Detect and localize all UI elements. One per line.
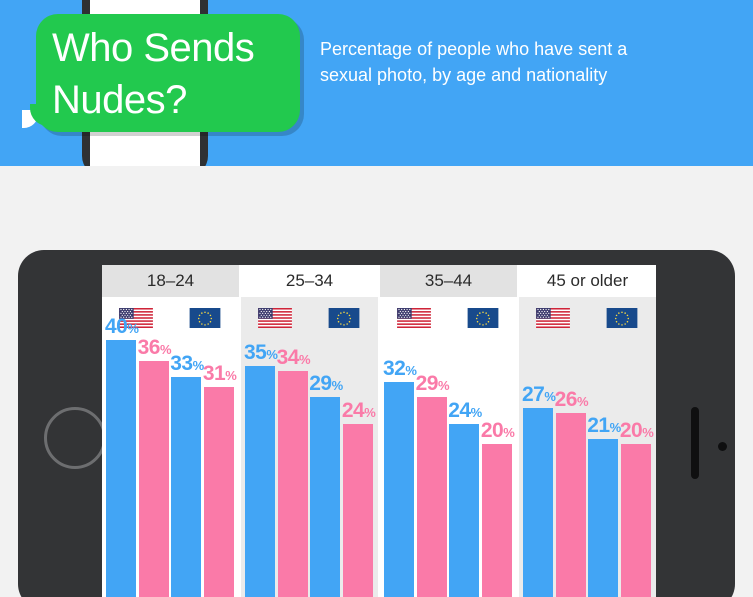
bar-value-label: 26% — [555, 388, 588, 412]
bars-container: 40%36%33%31% — [102, 297, 239, 597]
bar-value-label: 33% — [170, 352, 203, 376]
title-line-1: Who Sends — [52, 22, 292, 74]
bar-value-number: 40 — [105, 315, 127, 338]
chart-bar — [204, 387, 234, 597]
bar-value-label: 32% — [383, 357, 416, 381]
bar-value-number: 35 — [244, 341, 266, 364]
age-group-label: 45 or older — [547, 271, 628, 290]
chart-bar — [417, 397, 447, 597]
bar-value-suffix: % — [364, 405, 375, 420]
chart-bar — [343, 424, 373, 597]
chart-bar — [310, 397, 340, 597]
age-group-panel: 18–24 — [102, 265, 239, 597]
bar-value-number: 34 — [277, 346, 299, 369]
bar-value-label: 24% — [448, 399, 481, 423]
bar-value-suffix: % — [127, 321, 138, 336]
age-group-panel: 25–34 — [239, 265, 378, 597]
chart-bar — [588, 439, 618, 597]
bar-value-label: 20% — [481, 419, 514, 443]
bar-value-number: 29 — [416, 372, 438, 395]
age-group-panel: 35–44 — [378, 265, 517, 597]
bar-value-number: 33 — [170, 352, 192, 375]
age-group-header: 45 or older — [519, 265, 656, 297]
bar-value-label: 29% — [309, 372, 342, 396]
infographic-stage: Who Sends Nudes? Percentage of people wh… — [0, 0, 753, 597]
age-group-plot-area: 27%26%21%20% — [519, 297, 656, 597]
bar-value-number: 20 — [620, 419, 642, 442]
age-group-label: 18–24 — [147, 271, 194, 290]
bar-chart: 18–24 — [102, 265, 656, 597]
bar-value-number: 21 — [587, 414, 609, 437]
bar-value-suffix: % — [577, 394, 588, 409]
bar-value-number: 36 — [138, 336, 160, 359]
bar-value-number: 20 — [481, 419, 503, 442]
phone-front-camera-icon — [718, 442, 727, 451]
bar-value-number: 24 — [342, 399, 364, 422]
bars-container: 35%34%29%24% — [241, 297, 378, 597]
bar-value-suffix: % — [299, 352, 310, 367]
age-group-header: 35–44 — [380, 265, 517, 297]
bar-value-number: 26 — [555, 388, 577, 411]
chart-bar — [106, 340, 136, 597]
age-group-plot-area: 32%29%24%20% — [380, 297, 517, 597]
chart-bar — [245, 366, 275, 597]
bar-value-label: 36% — [138, 336, 171, 360]
bar-value-number: 32 — [383, 357, 405, 380]
age-group-label: 35–44 — [425, 271, 472, 290]
bar-value-label: 31% — [203, 362, 236, 386]
age-group-label: 25–34 — [286, 271, 333, 290]
chart-bar — [139, 361, 169, 597]
age-group-header: 25–34 — [241, 265, 378, 297]
bar-value-suffix: % — [642, 425, 653, 440]
bar-value-label: 29% — [416, 372, 449, 396]
age-group-panel: 45 or older — [517, 265, 656, 597]
bar-value-number: 24 — [448, 399, 470, 422]
bars-container: 27%26%21%20% — [519, 297, 656, 597]
bar-value-label: 27% — [522, 383, 555, 407]
age-group-plot-area: 40%36%33%31% — [102, 297, 239, 597]
legend: Men Women — [0, 166, 753, 240]
bar-value-label: 20% — [620, 419, 653, 443]
bar-value-label: 24% — [342, 399, 375, 423]
page-subtitle: Percentage of people who have sent a sex… — [320, 36, 650, 88]
chart-bar — [449, 424, 479, 597]
bar-value-suffix: % — [503, 425, 514, 440]
bar-value-label: 40% — [105, 315, 138, 339]
bar-value-number: 31 — [203, 362, 225, 385]
chart-bar — [621, 444, 651, 597]
bar-value-number: 27 — [522, 383, 544, 406]
bar-value-suffix: % — [332, 378, 343, 393]
age-group-header: 18–24 — [102, 265, 239, 297]
title-line-2: Nudes? — [52, 74, 292, 126]
bars-container: 32%29%24%20% — [380, 297, 517, 597]
chart-bar — [171, 377, 201, 597]
bar-value-label: 35% — [244, 341, 277, 365]
chart-bar — [556, 413, 586, 597]
bar-value-suffix: % — [471, 405, 482, 420]
header-banner: Who Sends Nudes? Percentage of people wh… — [0, 0, 753, 166]
chart-bar — [278, 371, 308, 597]
bar-value-suffix: % — [438, 378, 449, 393]
age-group-plot-area: 35%34%29%24% — [241, 297, 378, 597]
bar-value-suffix: % — [225, 368, 236, 383]
bar-value-number: 29 — [309, 372, 331, 395]
chart-bar — [482, 444, 512, 597]
home-button-icon[interactable] — [44, 407, 106, 469]
bar-value-label: 21% — [587, 414, 620, 438]
chart-bar — [523, 408, 553, 597]
chart-bar — [384, 382, 414, 597]
page-title: Who Sends Nudes? — [52, 22, 292, 126]
phone-speaker-slot-icon — [691, 407, 699, 479]
bar-value-label: 34% — [277, 346, 310, 370]
